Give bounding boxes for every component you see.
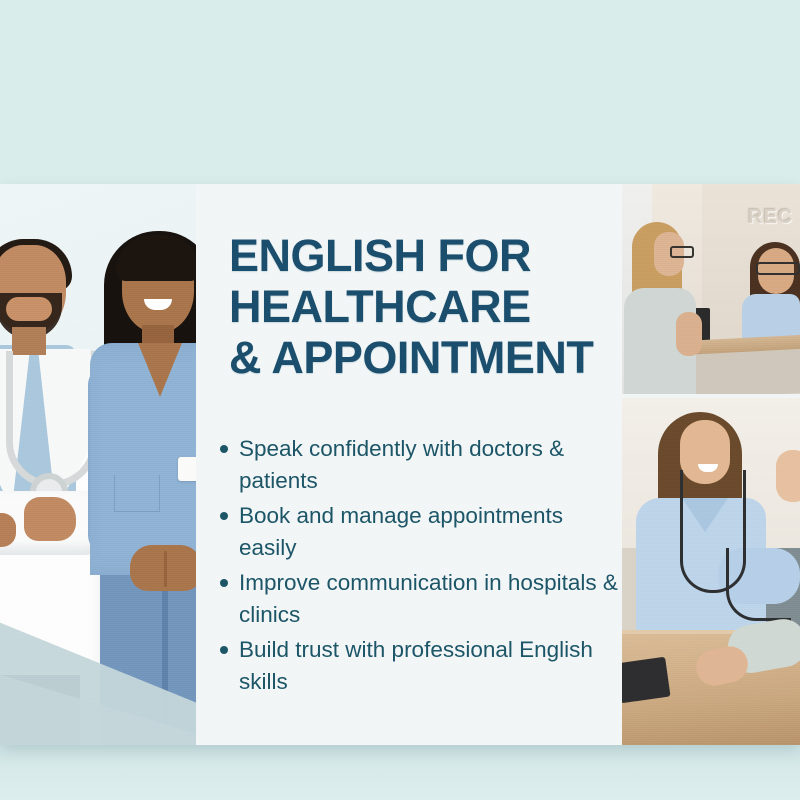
visitor-arm xyxy=(676,312,702,356)
benefits-list: Speak confidently with doctors & patient… xyxy=(214,433,622,701)
desk-tablet xyxy=(622,657,671,704)
list-item-label: Book and manage appointments easily xyxy=(239,503,563,560)
list-item: Book and manage appointments easily xyxy=(214,500,622,564)
list-item-label: Improve communication in hospitals & cli… xyxy=(239,570,618,627)
page-title: ENGLISH FOR HEALTHCARE & APPOINTMENT xyxy=(229,230,623,383)
list-item: Improve communication in hospitals & cli… xyxy=(214,567,622,631)
bullet-icon xyxy=(220,646,228,654)
photo-examination xyxy=(622,398,800,745)
bullet-icon xyxy=(220,579,228,587)
photo-column: REC xyxy=(622,184,800,745)
nurse-hand-seam xyxy=(164,551,167,587)
bullet-icon xyxy=(220,512,228,520)
poster-canvas: ENGLISH FOR HEALTHCARE & APPOINTMENT Spe… xyxy=(0,0,800,800)
list-item: Speak confidently with doctors & patient… xyxy=(214,433,622,497)
glasses-icon xyxy=(756,262,800,275)
list-item-label: Speak confidently with doctors & patient… xyxy=(239,436,564,493)
banner-card: ENGLISH FOR HEALTHCARE & APPOINTMENT Spe… xyxy=(0,184,800,745)
visitor-glasses-icon xyxy=(670,246,694,258)
stethoscope-tubing-icon xyxy=(6,351,98,488)
headline-line-1: ENGLISH FOR xyxy=(229,230,623,281)
headline-line-2: HEALTHCARE xyxy=(229,281,623,332)
reception-wall-sign: REC xyxy=(748,206,793,229)
bullet-icon xyxy=(220,445,228,453)
text-panel: ENGLISH FOR HEALTHCARE & APPOINTMENT Spe… xyxy=(196,184,622,745)
list-item-label: Build trust with professional English sk… xyxy=(239,637,593,694)
patient-head xyxy=(776,450,800,502)
stethoscope-cord-icon xyxy=(726,548,791,621)
headline-line-3: & APPOINTMENT xyxy=(229,332,623,383)
nurse-scrub-pocket xyxy=(114,475,160,512)
doctor-hand-right xyxy=(24,497,76,541)
doctor-face xyxy=(6,297,52,321)
page-background-bottom xyxy=(0,745,800,800)
reception-counter-front xyxy=(679,349,800,394)
photo-reception-desk: REC xyxy=(622,184,800,394)
page-background-top xyxy=(0,0,800,184)
list-item: Build trust with professional English sk… xyxy=(214,634,622,698)
